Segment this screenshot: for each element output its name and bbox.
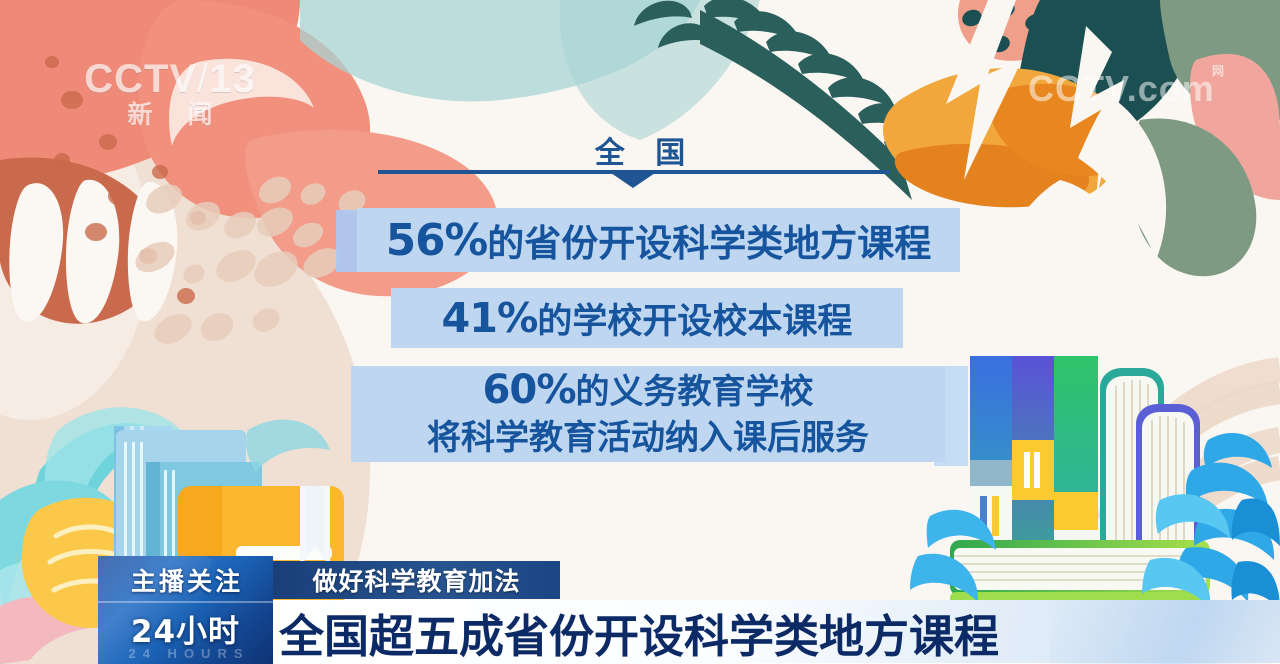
program-category: 主播关注 <box>98 562 273 598</box>
broadcast-frame: CCTV/13 新 闻 CCTV.com 网 全 国 56%的省份开设科学类地方… <box>0 0 1280 664</box>
stat-3-percent-symbol: % <box>536 367 575 413</box>
stat-box-1: 56%的省份开设科学类地方课程 <box>357 208 960 272</box>
program-badge: 主播关注 24小时 24 HOURS <box>98 556 273 664</box>
stat-2-text: 的学校开设校本课程 <box>537 293 852 344</box>
stat-1-value: 56 <box>386 215 445 266</box>
stat-2-percent-symbol: % <box>497 294 537 342</box>
title-arrow-icon <box>611 173 655 188</box>
stat-3-line1: 60%的义务教育学校 <box>482 368 813 414</box>
headline-bar: 全国超五成省份开设科学类地方课程 <box>273 600 1280 664</box>
cctv-com-watermark-sup: 网 <box>1212 62 1224 79</box>
program-name: 24小时 <box>98 606 273 651</box>
stat-1-text: 的省份开设科学类地方课程 <box>487 213 931 267</box>
stat-2-value: 41 <box>442 294 497 342</box>
stat-box-3: 60%的义务教育学校 将科学教育活动纳入课后服务 <box>351 366 945 462</box>
stat-3-text: 的义务教育学校 <box>576 372 814 412</box>
headline-text: 全国超五成省份开设科学类地方课程 <box>273 600 999 664</box>
program-name-en: 24 HOURS <box>98 646 273 661</box>
topic-badge: 做好科学教育加法 <box>273 561 560 599</box>
stat-3-value: 60 <box>482 367 536 413</box>
stat-3-line2: 将科学教育活动纳入课后服务 <box>427 416 869 460</box>
stat-1-percent-symbol: % <box>445 215 488 266</box>
infographic-title: 全 国 <box>0 128 1280 172</box>
stat-box-2: 41%的学校开设校本课程 <box>391 288 903 348</box>
